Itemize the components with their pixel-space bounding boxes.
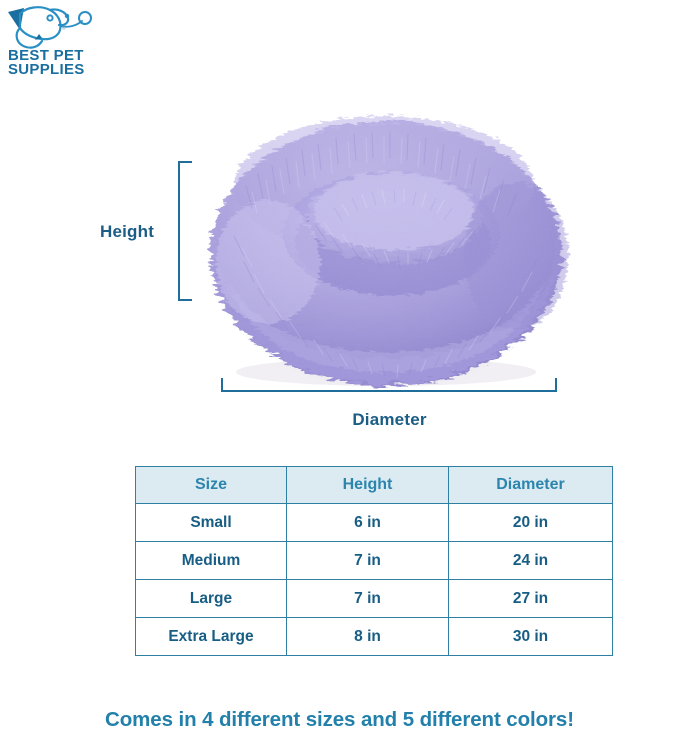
logo-text-line2: SUPPLIES — [8, 61, 85, 76]
diameter-callout-label: Diameter — [50, 410, 679, 430]
product-figure — [186, 66, 586, 396]
cell-height: 6 in — [287, 504, 449, 542]
column-header-size: Size — [136, 467, 287, 504]
cell-size: Medium — [136, 542, 287, 580]
cell-diameter: 24 in — [449, 542, 613, 580]
cell-height: 7 in — [287, 580, 449, 618]
cell-diameter: 20 in — [449, 504, 613, 542]
diameter-bracket-icon — [221, 378, 557, 392]
cell-height: 7 in — [287, 542, 449, 580]
size-chart-table: Size Height Diameter Small 6 in 20 in Me… — [135, 466, 613, 656]
footer-tagline: Comes in 4 different sizes and 5 differe… — [0, 708, 679, 732]
cell-size: Small — [136, 504, 287, 542]
column-header-height: Height — [287, 467, 449, 504]
pet-bed-image — [186, 66, 586, 396]
cell-size: Large — [136, 580, 287, 618]
dog-logo-icon: ® BEST PET SUPPLIES — [6, 4, 98, 76]
table-row: Large 7 in 27 in — [136, 580, 613, 618]
table-row: Medium 7 in 24 in — [136, 542, 613, 580]
cell-size: Extra Large — [136, 618, 287, 656]
column-header-diameter: Diameter — [449, 467, 613, 504]
brand-logo: ® BEST PET SUPPLIES — [6, 4, 98, 76]
cell-diameter: 30 in — [449, 618, 613, 656]
height-callout-label: Height — [100, 222, 154, 242]
cell-diameter: 27 in — [449, 580, 613, 618]
table-header-row: Size Height Diameter — [136, 467, 613, 504]
height-bracket-icon — [178, 161, 192, 301]
svg-text:®: ® — [62, 25, 66, 32]
cell-height: 8 in — [287, 618, 449, 656]
table-row: Small 6 in 20 in — [136, 504, 613, 542]
table-row: Extra Large 8 in 30 in — [136, 618, 613, 656]
